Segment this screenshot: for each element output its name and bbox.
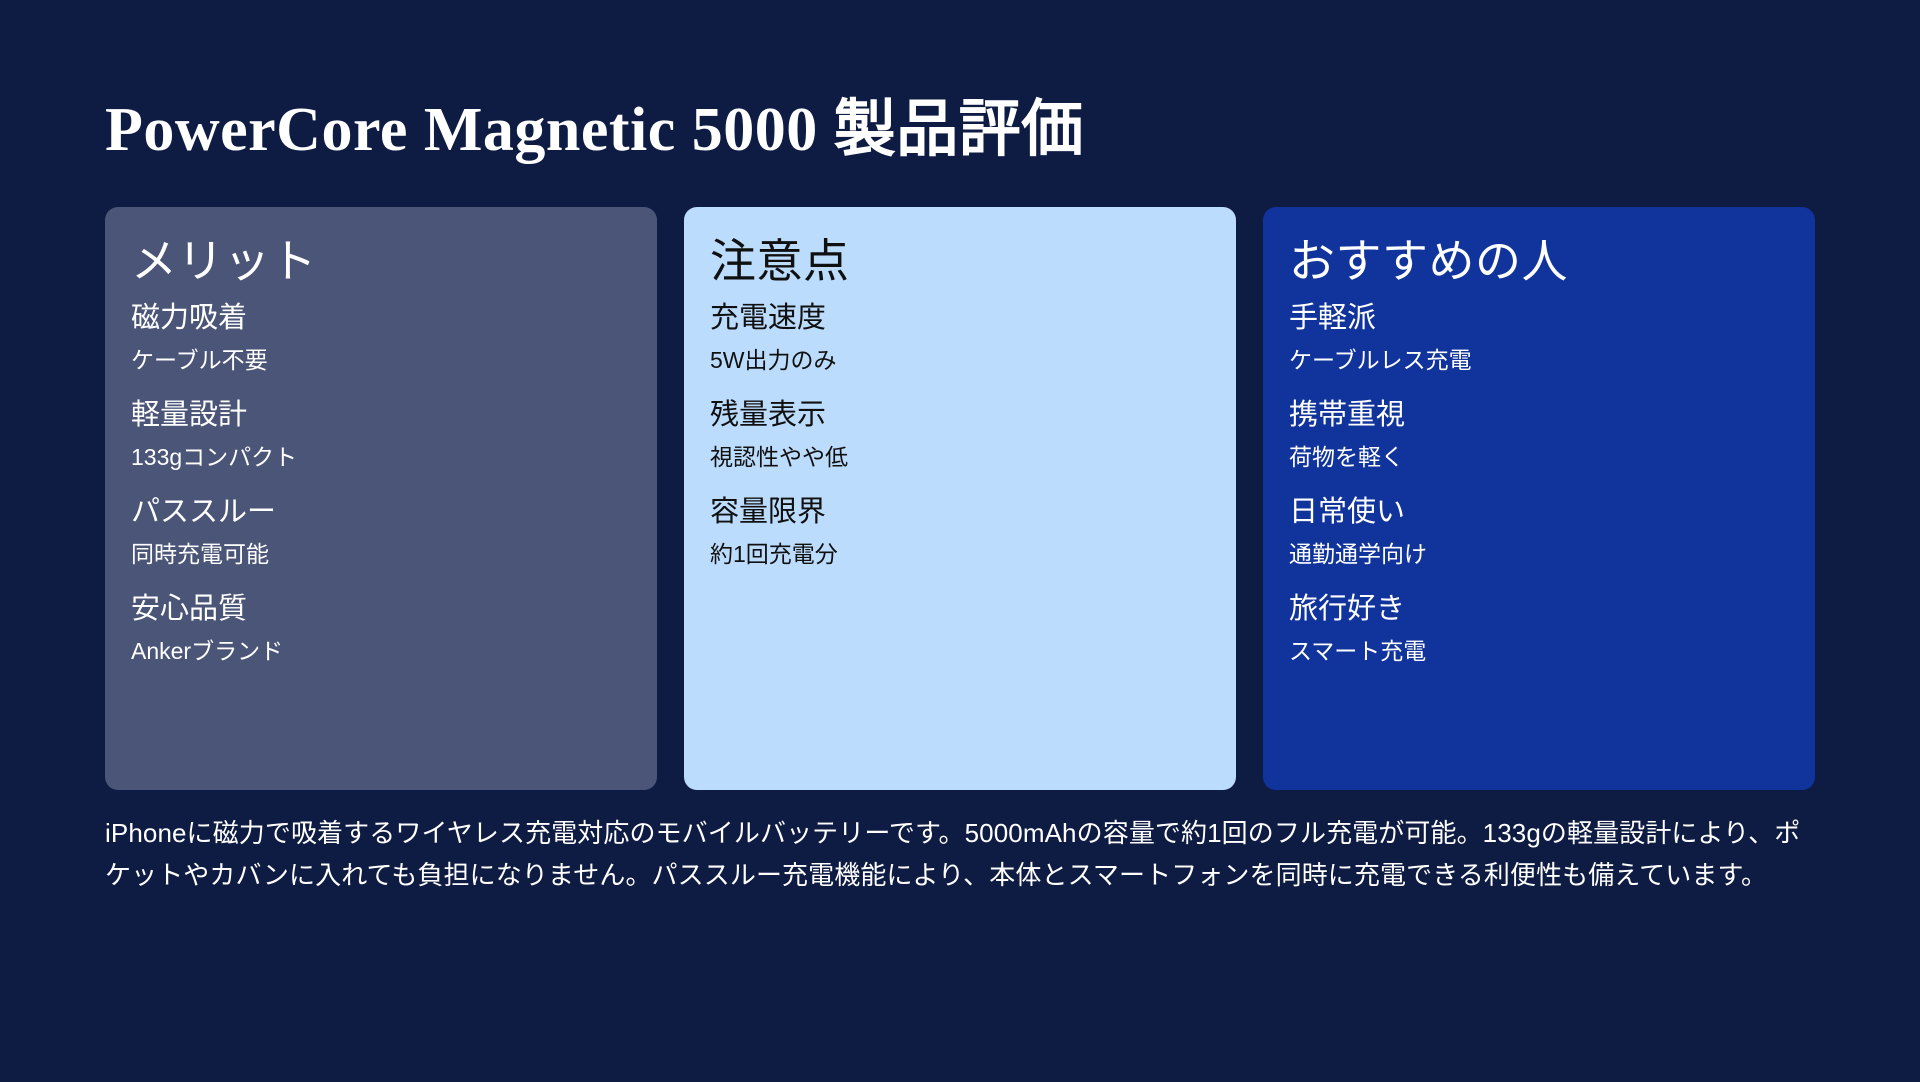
item-detail: 約1回充電分 (710, 537, 1210, 572)
list-item: 充電速度 5W出力のみ (710, 297, 1210, 378)
item-detail: Ankerブランド (131, 634, 631, 669)
item-label: 日常使い (1289, 491, 1789, 535)
item-label: 残量表示 (710, 394, 1210, 438)
card-cautions-heading: 注意点 (710, 233, 1210, 291)
item-detail: ケーブル不要 (131, 343, 631, 378)
item-detail: 通勤通学向け (1289, 537, 1789, 572)
list-item: 携帯重視 荷物を軽く (1289, 394, 1789, 475)
item-label: 手軽派 (1289, 297, 1789, 341)
card-audience: おすすめの人 手軽派 ケーブルレス充電 携帯重視 荷物を軽く 日常使い 通勤通学… (1263, 207, 1815, 790)
item-detail: 荷物を軽く (1289, 440, 1789, 475)
summary-paragraph: iPhoneに磁力で吸着するワイヤレス充電対応のモバイルバッテリーです。5000… (105, 812, 1815, 896)
item-label: 軽量設計 (131, 394, 631, 438)
card-pros-heading: メリット (131, 233, 631, 291)
comparison-cards-row: メリット 磁力吸着 ケーブル不要 軽量設計 133gコンパクト パススルー 同時… (105, 207, 1815, 790)
list-item: パススルー 同時充電可能 (131, 491, 631, 572)
item-detail: 視認性やや低 (710, 440, 1210, 475)
list-item: 手軽派 ケーブルレス充電 (1289, 297, 1789, 378)
product-review-page: PowerCore Magnetic 5000 製品評価 メリット 磁力吸着 ケ… (0, 0, 1920, 1082)
item-detail: 5W出力のみ (710, 343, 1210, 378)
list-item: 軽量設計 133gコンパクト (131, 394, 631, 475)
list-item: 磁力吸着 ケーブル不要 (131, 297, 631, 378)
card-audience-item-list: 手軽派 ケーブルレス充電 携帯重視 荷物を軽く 日常使い 通勤通学向け 旅行好き… (1289, 297, 1789, 669)
item-label: パススルー (131, 491, 631, 535)
list-item: 残量表示 視認性やや低 (710, 394, 1210, 475)
card-audience-heading: おすすめの人 (1289, 233, 1789, 291)
item-label: 安心品質 (131, 588, 631, 632)
item-detail: ケーブルレス充電 (1289, 343, 1789, 378)
item-label: 充電速度 (710, 297, 1210, 341)
item-detail: 133gコンパクト (131, 440, 631, 475)
list-item: 安心品質 Ankerブランド (131, 588, 631, 669)
card-pros-item-list: 磁力吸着 ケーブル不要 軽量設計 133gコンパクト パススルー 同時充電可能 … (131, 297, 631, 669)
item-detail: 同時充電可能 (131, 537, 631, 572)
card-pros: メリット 磁力吸着 ケーブル不要 軽量設計 133gコンパクト パススルー 同時… (105, 207, 657, 790)
item-label: 携帯重視 (1289, 394, 1789, 438)
list-item: 日常使い 通勤通学向け (1289, 491, 1789, 572)
list-item: 容量限界 約1回充電分 (710, 491, 1210, 572)
item-detail: スマート充電 (1289, 634, 1789, 669)
card-cautions: 注意点 充電速度 5W出力のみ 残量表示 視認性やや低 容量限界 約1回充電分 (684, 207, 1236, 790)
item-label: 旅行好き (1289, 588, 1789, 632)
card-cautions-item-list: 充電速度 5W出力のみ 残量表示 視認性やや低 容量限界 約1回充電分 (710, 297, 1210, 572)
list-item: 旅行好き スマート充電 (1289, 588, 1789, 669)
page-title: PowerCore Magnetic 5000 製品評価 (105, 0, 1815, 164)
item-label: 容量限界 (710, 491, 1210, 535)
item-label: 磁力吸着 (131, 297, 631, 341)
